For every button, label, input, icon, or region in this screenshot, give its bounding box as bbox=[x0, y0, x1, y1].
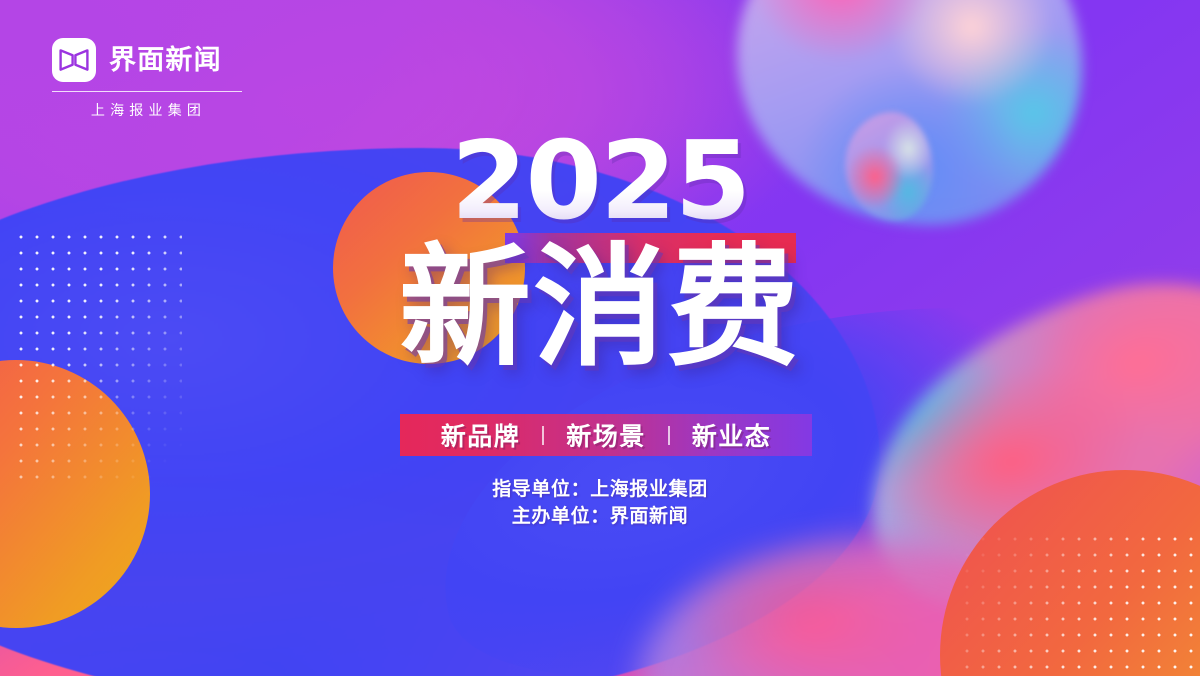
brand-name: 界面新闻 bbox=[109, 47, 222, 74]
credit-line-guidance: 指导单位：上海报业集团 bbox=[0, 476, 1200, 503]
tag-separator-1 bbox=[542, 426, 544, 445]
tag-item-3: 新业态 bbox=[692, 417, 772, 453]
credit-line-organizer: 主办单位：界面新闻 bbox=[0, 503, 1200, 530]
brand-lockup: 界面新闻 上海报业集团 bbox=[52, 38, 242, 120]
page-title: 新消费 bbox=[0, 236, 1200, 381]
brand-row: 界面新闻 bbox=[52, 38, 242, 82]
brand-divider bbox=[52, 91, 242, 92]
credits-block: 指导单位：上海报业集团 主办单位：界面新闻 bbox=[0, 476, 1200, 530]
tag-separator-2 bbox=[668, 426, 670, 445]
tag-item-1: 新品牌 bbox=[441, 417, 521, 453]
year-title: 2025 bbox=[0, 128, 1200, 236]
tagline-bar: 新品牌 新场景 新业态 bbox=[400, 414, 812, 456]
tag-item-2: 新场景 bbox=[566, 417, 646, 453]
jiemian-bowtie-logo-icon bbox=[52, 38, 96, 82]
poster-canvas: 界面新闻 上海报业集团 2025 新消费 新品牌 新场景 新业态 指导单位：上海… bbox=[0, 0, 1200, 676]
right-dot-grid bbox=[958, 530, 1200, 676]
brand-group-name: 上海报业集团 bbox=[52, 100, 242, 120]
